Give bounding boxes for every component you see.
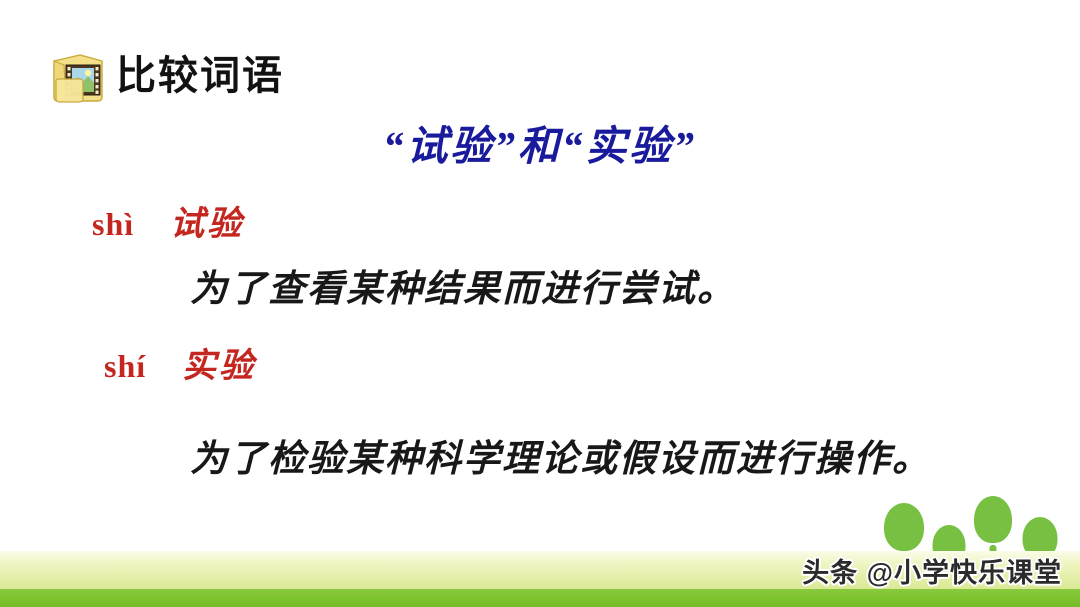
definition-text: 为了检验某种科学理论或假设而进行操作。 xyxy=(190,428,931,482)
film-folder-icon xyxy=(50,47,106,105)
main-heading: “试验”和“实验” xyxy=(0,112,1080,172)
pinyin-label: shí xyxy=(104,348,146,385)
slide-canvas: 比较词语 “试验”和“实验” shì 试验 为了查看某种结果而进行尝试。 shí… xyxy=(0,0,1080,607)
headword-label: 实验 xyxy=(182,338,256,387)
page-title: 比较词语 xyxy=(116,56,284,96)
entry-word-row: shí 实验 xyxy=(104,338,256,387)
pinyin-label: shì xyxy=(92,206,134,243)
definition-text: 为了查看某种结果而进行尝试。 xyxy=(190,258,736,312)
headword-label: 试验 xyxy=(170,196,244,245)
green-band xyxy=(0,589,1080,607)
watermark-text: 头条 @小学快乐课堂 xyxy=(802,551,1062,590)
header: 比较词语 xyxy=(50,47,284,105)
entry-word-row: shì 试验 xyxy=(92,196,244,245)
